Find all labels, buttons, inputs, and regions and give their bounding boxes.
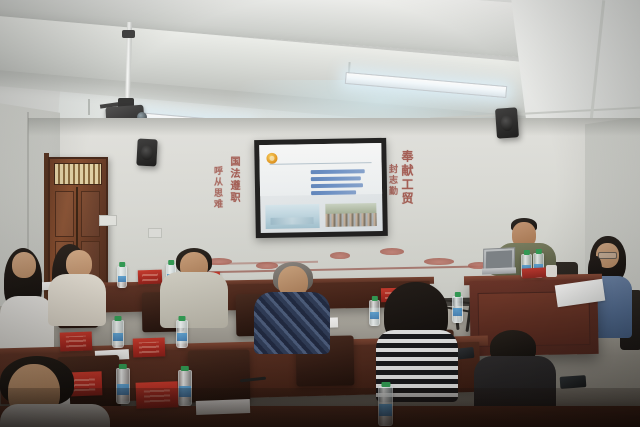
wall-calligraphy-right-2: 封志勤 [387, 164, 400, 197]
bottle-cap [371, 296, 377, 301]
door-panel [55, 191, 74, 237]
bottle-cap [115, 316, 122, 321]
foreground-shadow [0, 388, 640, 427]
slide-text-line [311, 191, 356, 196]
bottle-cap [535, 249, 541, 254]
slide-photo-row [260, 196, 383, 230]
bottle-label [453, 308, 462, 316]
frieze-cloud-motif [380, 248, 404, 255]
bottle-label [177, 333, 187, 341]
frieze-cloud-motif [330, 252, 350, 259]
slide-text-block [311, 170, 368, 199]
slide-text-line [311, 184, 363, 189]
assistant-glasses-icon [598, 252, 617, 259]
water-bottle [176, 320, 188, 348]
bottle-cap [119, 364, 127, 369]
light-switch-plate[interactable] [99, 215, 117, 226]
bottle-cap [179, 316, 186, 321]
wall-calligraphy-left-2: 呼从思难 [212, 166, 225, 210]
bottle-cap [119, 262, 125, 267]
bottle-cap [454, 292, 460, 297]
bottle-cap [168, 260, 174, 265]
red-booklet [522, 267, 546, 278]
wall-calligraphy-left-1: 国法遵职 [226, 156, 241, 204]
attendee-body [160, 272, 228, 328]
attendee-body [254, 292, 330, 354]
light-hook-2 [88, 99, 90, 115]
door-panel [81, 191, 100, 237]
slide-photo-group [325, 203, 377, 227]
bottle-label [370, 312, 379, 320]
wall-speaker-right-icon [495, 107, 519, 138]
door-transom-grille [54, 163, 102, 185]
water-bottle [452, 296, 463, 323]
wall-speaker-left-icon [136, 138, 157, 166]
projected-slide [259, 143, 383, 233]
name-tent-card [138, 270, 162, 285]
meeting-room-photo: 国法遵职 呼从思难 奉献工贸 封志勤 勤学习 [0, 0, 640, 427]
laptop-screen [486, 250, 512, 268]
water-bottle [117, 266, 127, 288]
slide-text-line [311, 177, 360, 182]
projector-pole-collar [122, 30, 135, 38]
name-tent-card [133, 337, 166, 357]
attendee-body [48, 274, 106, 326]
smartphone[interactable] [560, 375, 587, 389]
projection-screen [254, 138, 388, 238]
wall-top-shadow [28, 118, 640, 136]
slide-text-line [311, 170, 365, 175]
bottle-cap [381, 382, 390, 387]
laptop-keyboard[interactable] [482, 267, 516, 274]
wall-socket [148, 228, 162, 238]
bottle-cap [181, 366, 189, 371]
bottle-label [118, 276, 126, 282]
name-tent-card [60, 331, 93, 351]
white-cup [546, 265, 557, 277]
bottle-cap [523, 250, 529, 255]
frieze-cloud-motif [256, 262, 278, 269]
water-bottle [369, 300, 380, 326]
wall-calligraphy-right-1: 奉献工贸 [399, 150, 416, 206]
bottle-label [113, 333, 123, 341]
slide-photo-cityscape [265, 204, 319, 230]
water-bottle [112, 320, 124, 348]
frieze-cloud-motif [424, 258, 454, 265]
attendee-head [12, 252, 36, 278]
